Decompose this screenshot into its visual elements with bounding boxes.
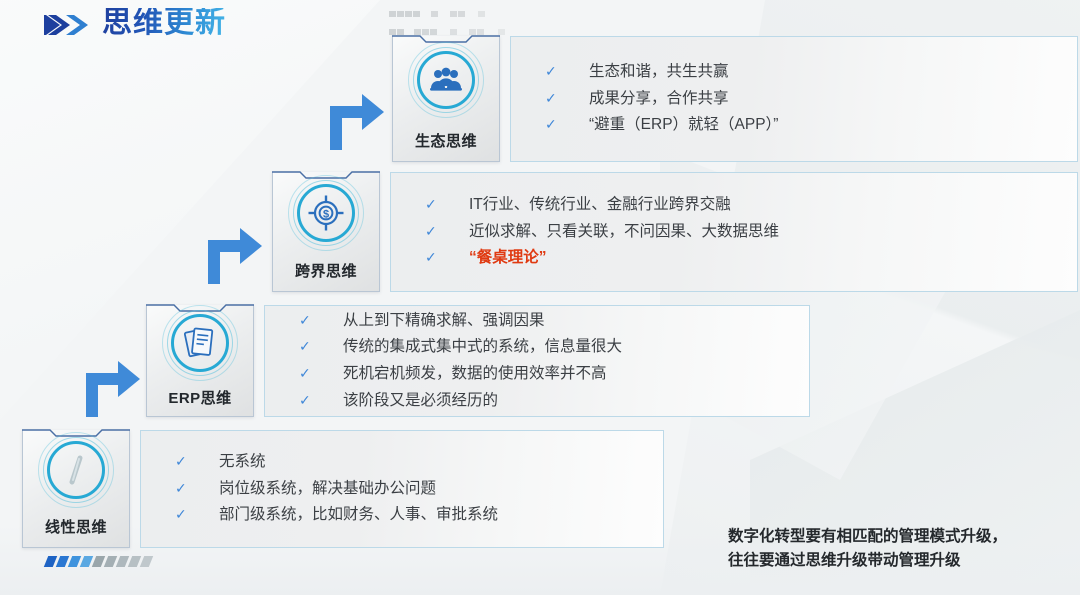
- tier-panel-ecology: ✓ 生态和谐，共生共赢 ✓ 成果分享，合作共享 ✓ “避重（ERP）就轻（APP…: [510, 36, 1078, 162]
- check-icon: ✓: [299, 361, 343, 385]
- svg-text:$: $: [323, 209, 329, 221]
- check-icon: ✓: [545, 112, 589, 136]
- check-icon: ✓: [299, 334, 343, 358]
- bullet-item: ✓ 传统的集成式集中式的系统，信息量很大: [299, 334, 809, 361]
- bullet-text: 传统的集成式集中式的系统，信息量很大: [343, 334, 622, 361]
- tier-card-crossover[interactable]: $ 跨界思维: [272, 172, 380, 292]
- double-chevron-right-icon: [44, 13, 88, 37]
- tier-row-crossover: $ 跨界思维 ✓ IT行业、传统行业、金融行业跨界交融 ✓ 近似求解、只看关联，…: [272, 172, 1078, 292]
- slide-header: 思维更新: [44, 8, 226, 38]
- bullet-item: ✓ IT行业、传统行业、金融行业跨界交融: [425, 192, 1077, 219]
- bullet-item: ✓ 岗位级系统，解决基础办公问题: [175, 476, 663, 503]
- tier-icon-holder: $: [273, 172, 379, 254]
- check-icon: ✓: [299, 388, 343, 412]
- bullet-item: ✓ 生态和谐，共生共赢: [545, 59, 1077, 86]
- bullet-item: ✓ 该阶段又是必须经历的: [299, 388, 809, 415]
- check-icon: ✓: [299, 308, 343, 332]
- tier-panel-erp: ✓ 从上到下精确求解、强调因果 ✓ 传统的集成式集中式的系统，信息量很大 ✓ 死…: [264, 305, 810, 417]
- bullet-text: 死机宕机频发，数据的使用效率并不高: [343, 361, 607, 388]
- bullet-text: 从上到下精确求解、强调因果: [343, 308, 545, 335]
- bullet-item: ✓ 部门级系统，比如财务、人事、审批系统: [175, 502, 663, 529]
- diagonal-line-icon: [38, 432, 114, 508]
- bullet-item: ✓ 死机宕机频发，数据的使用效率并不高: [299, 361, 809, 388]
- tier-panel-crossover: ✓ IT行业、传统行业、金融行业跨界交融 ✓ 近似求解、只看关联，不问因果、大数…: [390, 172, 1078, 292]
- check-icon: ✓: [175, 502, 219, 526]
- people-group-icon: [408, 42, 484, 118]
- bullet-text: IT行业、传统行业、金融行业跨界交融: [469, 192, 731, 219]
- bullet-text: 岗位级系统，解决基础办公问题: [219, 476, 436, 503]
- bullet-item: ✓ “避重（ERP）就轻（APP）”: [545, 112, 1077, 139]
- bullet-item: ✓ 成果分享，合作共享: [545, 86, 1077, 113]
- check-icon: ✓: [545, 86, 589, 110]
- bullet-text: 生态和谐，共生共赢: [589, 59, 729, 86]
- tier-label-linear: 线性思维: [23, 510, 129, 547]
- tier-icon-holder: [23, 430, 129, 510]
- check-icon: ✓: [175, 476, 219, 500]
- bullet-item: ✓ 近似求解、只看关联，不问因果、大数据思维: [425, 219, 1077, 246]
- check-icon: ✓: [545, 59, 589, 83]
- tier-row-ecology: 生态思维 ✓ 生态和谐，共生共赢 ✓ 成果分享，合作共享 ✓ “避重（ERP）就…: [392, 36, 1078, 162]
- tier-icon-holder: [393, 36, 499, 124]
- bullet-text: “避重（ERP）就轻（APP）”: [589, 112, 778, 139]
- target-dollar-icon: $: [288, 175, 364, 251]
- tier-label-ecology: 生态思维: [393, 124, 499, 161]
- bullet-item: ✓ 无系统: [175, 449, 663, 476]
- check-icon: ✓: [425, 245, 469, 269]
- check-icon: ✓: [425, 192, 469, 216]
- tier-card-linear[interactable]: 线性思维: [22, 430, 130, 548]
- caption-line-2: 往往要通过思维升级带动管理升级: [728, 549, 1078, 573]
- tier-card-ecology[interactable]: 生态思维: [392, 36, 500, 162]
- bullet-text-accent: “餐桌理论”: [469, 245, 547, 272]
- tier-panel-linear: ✓ 无系统 ✓ 岗位级系统，解决基础办公问题 ✓ 部门级系统，比如财务、人事、审…: [140, 430, 664, 548]
- tier-label-erp: ERP思维: [147, 381, 253, 418]
- slide-canvas: 思维更新: [0, 0, 1080, 595]
- elbow-arrow-up-right-icon: [200, 222, 266, 284]
- tier-row-erp: ERP思维 ✓ 从上到下精确求解、强调因果 ✓ 传统的集成式集中式的系统，信息量…: [146, 305, 810, 417]
- tier-row-linear: 线性思维 ✓ 无系统 ✓ 岗位级系统，解决基础办公问题 ✓ 部门级系统，比如财务…: [22, 430, 664, 548]
- bullet-item: ✓ 从上到下精确求解、强调因果: [299, 308, 809, 335]
- slide-caption: 数字化转型要有相匹配的管理模式升级， 往往要通过思维升级带动管理升级: [728, 525, 1078, 573]
- stripes-decoration-icon: [44, 556, 153, 567]
- bullet-text: 部门级系统，比如财务、人事、审批系统: [219, 502, 498, 529]
- elbow-arrow-up-right-icon: [322, 88, 388, 150]
- check-icon: ✓: [425, 219, 469, 243]
- elbow-arrow-up-right-icon: [78, 355, 144, 417]
- tier-card-erp[interactable]: ERP思维: [146, 305, 254, 417]
- caption-line-1: 数字化转型要有相匹配的管理模式升级，: [728, 525, 1078, 549]
- documents-icon: [162, 305, 238, 381]
- tier-label-crossover: 跨界思维: [273, 254, 379, 291]
- check-icon: ✓: [175, 449, 219, 473]
- bullet-text: 无系统: [219, 449, 266, 476]
- bullet-text: 近似求解、只看关联，不问因果、大数据思维: [469, 219, 779, 246]
- bullet-item: ✓ “餐桌理论”: [425, 245, 1077, 272]
- bullet-text: 成果分享，合作共享: [589, 86, 729, 113]
- tier-icon-holder: [147, 305, 253, 381]
- bullet-text: 该阶段又是必须经历的: [343, 388, 498, 415]
- page-title: 思维更新: [102, 8, 226, 38]
